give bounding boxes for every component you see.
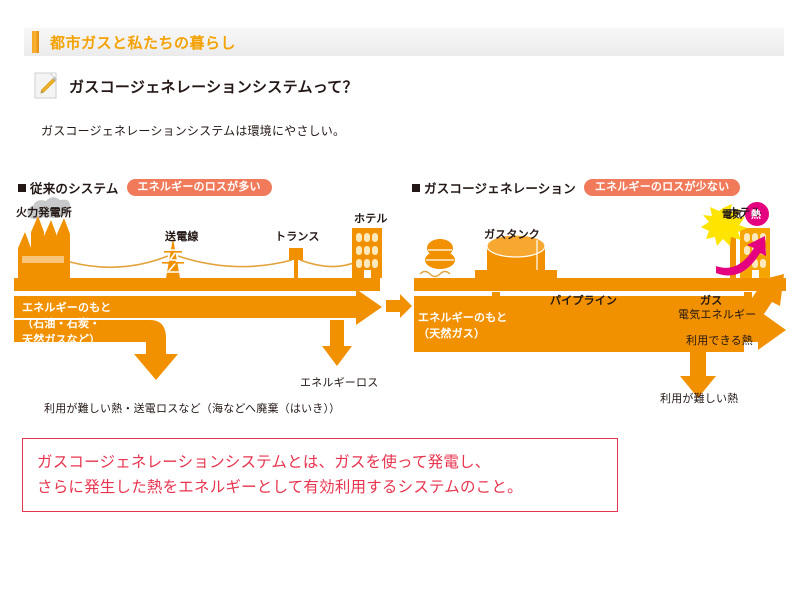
power-plant-windows (22, 256, 64, 263)
left-energy-source-line1: エネルギーのもと (22, 300, 111, 316)
label-pipeline: パイプライン (550, 292, 617, 308)
panel-connector-arrow (386, 294, 412, 318)
transformer-icon (289, 248, 303, 278)
label-transmission-line: 送電線 (165, 228, 199, 244)
label-unusable-heat: 利用が難しい熱 (660, 390, 738, 406)
transmission-wire (300, 260, 356, 267)
right-energy-source-line2: （天然ガス） (418, 326, 485, 342)
section-heading: ガスコージェネレーションシステムって？ (34, 72, 358, 100)
transmission-wire (70, 256, 168, 267)
label-hotel-left: ホテル (354, 210, 388, 226)
transmission-wire (178, 256, 292, 267)
summary-line-1: ガスコージェネレーションシステムとは、ガスを使って発電し、 (37, 450, 617, 475)
page-header: 都市ガスと私たちの暮らし (24, 28, 784, 56)
label-electric-energy: 電気エネルギー (678, 306, 756, 322)
cogeneration-diagram: 従来のシステム エネルギーのロスが多い ガスコージェネレーション エネルギーのロ… (0, 170, 800, 430)
header-marker-icon (32, 31, 39, 53)
page-title: 都市ガスと私たちの暮らし (50, 32, 236, 53)
summary-line-2: さらに発生した熱をエネルギーとして有効利用するシステムのこと。 (37, 475, 617, 500)
left-energy-source-line2: （石油・石炭・ (22, 316, 100, 332)
label-transformer: トランス (275, 228, 320, 244)
left-ground-bar (14, 278, 380, 291)
summary-box: ガスコージェネレーションシステムとは、ガスを使って発電し、 さらに発生した熱をエ… (22, 438, 618, 512)
transmission-tower-icon (162, 238, 184, 278)
pencil-document-icon (34, 72, 60, 100)
lead-paragraph: ガスコージェネレーションシステムは環境にやさしい。 (41, 122, 345, 139)
label-power-plant: 火力発電所 (16, 204, 72, 220)
left-energy-loss-arrow (322, 320, 352, 366)
lng-tanker-icon (425, 239, 455, 269)
label-waste-heat: 利用が難しい熱・送電ロスなど（海などへ廃棄（はいき）） (44, 400, 340, 416)
section-heading-label: ガスコージェネレーションシステムって？ (69, 76, 358, 97)
label-gas-tank: ガスタンク (484, 226, 540, 242)
right-ground-bar (414, 278, 786, 291)
label-usable-heat: 利用できる熱 (686, 332, 753, 348)
badge-heat-label: 熱 (751, 206, 761, 221)
power-plant-icon (18, 216, 70, 278)
badge-electricity-label: 電気 (722, 206, 742, 221)
right-energy-source-line1: エネルギーのもと (418, 310, 507, 326)
hotel-building-left-icon (352, 228, 382, 278)
left-energy-source-line3: 天然ガスなど） (22, 332, 100, 348)
label-energy-loss: エネルギーロス (300, 374, 378, 390)
